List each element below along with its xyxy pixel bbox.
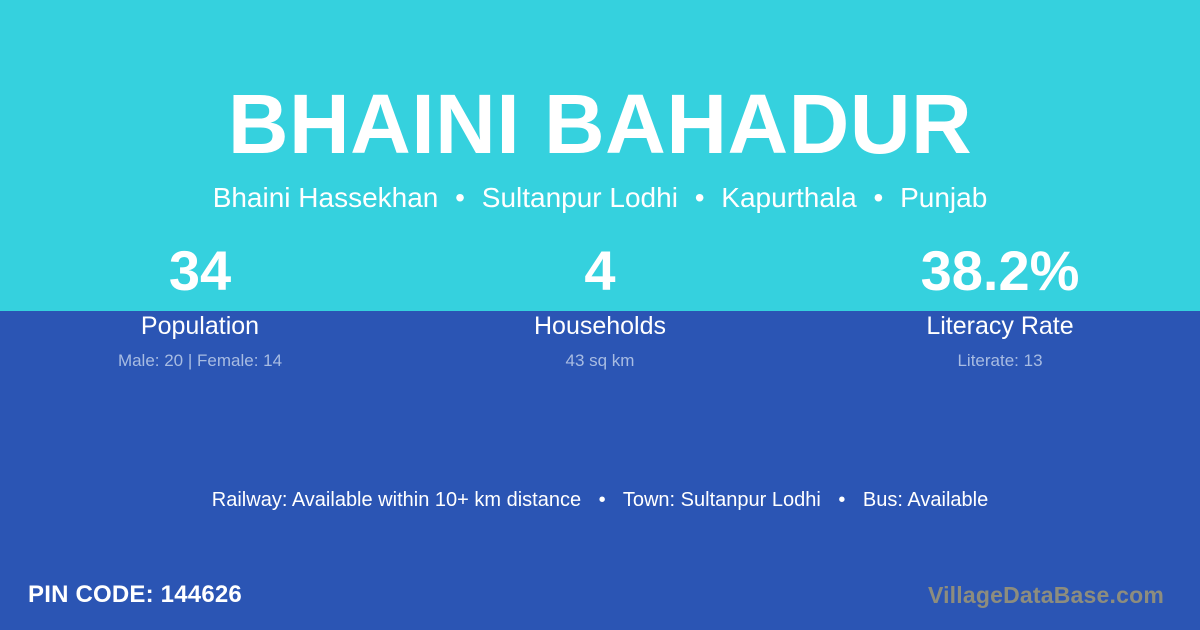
stat-population: 34 Population Male: 20 | Female: 14 xyxy=(0,240,400,385)
brand-watermark: VillageDataBase.com xyxy=(928,582,1164,609)
amenity-bus: Bus: Available xyxy=(863,489,988,511)
stat-households-value: 4 xyxy=(400,240,800,302)
stats-row: 34 Population Male: 20 | Female: 14 4 Ho… xyxy=(0,240,1200,385)
village-info-card: BHAINI BAHADUR Bhaini Hassekhan • Sultan… xyxy=(0,0,1200,630)
breadcrumb-item-panchayat: Bhaini Hassekhan xyxy=(213,182,439,213)
stat-households-label: Households xyxy=(400,311,800,341)
breadcrumb-separator-icon: • xyxy=(446,182,474,213)
breadcrumb-item-block: Sultanpur Lodhi xyxy=(482,182,678,213)
footer: PIN CODE: 144626 VillageDataBase.com xyxy=(0,574,1200,616)
amenity-separator-icon: • xyxy=(826,489,857,511)
stat-literacy-rate: 38.2% Literacy Rate Literate: 13 xyxy=(800,240,1200,385)
stat-population-value: 34 xyxy=(0,240,400,302)
amenity-town: Town: Sultanpur Lodhi xyxy=(623,489,821,511)
stat-households: 4 Households 43 sq km xyxy=(400,240,800,385)
breadcrumb-separator-icon: • xyxy=(686,182,714,213)
page-title: BHAINI BAHADUR xyxy=(0,82,1200,166)
amenity-railway: Railway: Available within 10+ km distanc… xyxy=(212,489,581,511)
stat-population-breakdown: Male: 20 | Female: 14 xyxy=(0,350,400,372)
stat-literacy-rate-value: 38.2% xyxy=(800,240,1200,302)
breadcrumb-item-state: Punjab xyxy=(900,182,987,213)
breadcrumb: Bhaini Hassekhan • Sultanpur Lodhi • Kap… xyxy=(0,183,1200,214)
stat-households-area: 43 sq km xyxy=(400,350,800,372)
breadcrumb-separator-icon: • xyxy=(865,182,893,213)
amenity-separator-icon: • xyxy=(587,489,618,511)
pin-code: PIN CODE: 144626 xyxy=(28,581,242,609)
amenities-row: Railway: Available within 10+ km distanc… xyxy=(0,486,1200,514)
stat-literacy-rate-label: Literacy Rate xyxy=(800,311,1200,341)
stat-population-label: Population xyxy=(0,311,400,341)
breadcrumb-item-district: Kapurthala xyxy=(721,182,856,213)
stat-literacy-rate-count: Literate: 13 xyxy=(800,350,1200,372)
